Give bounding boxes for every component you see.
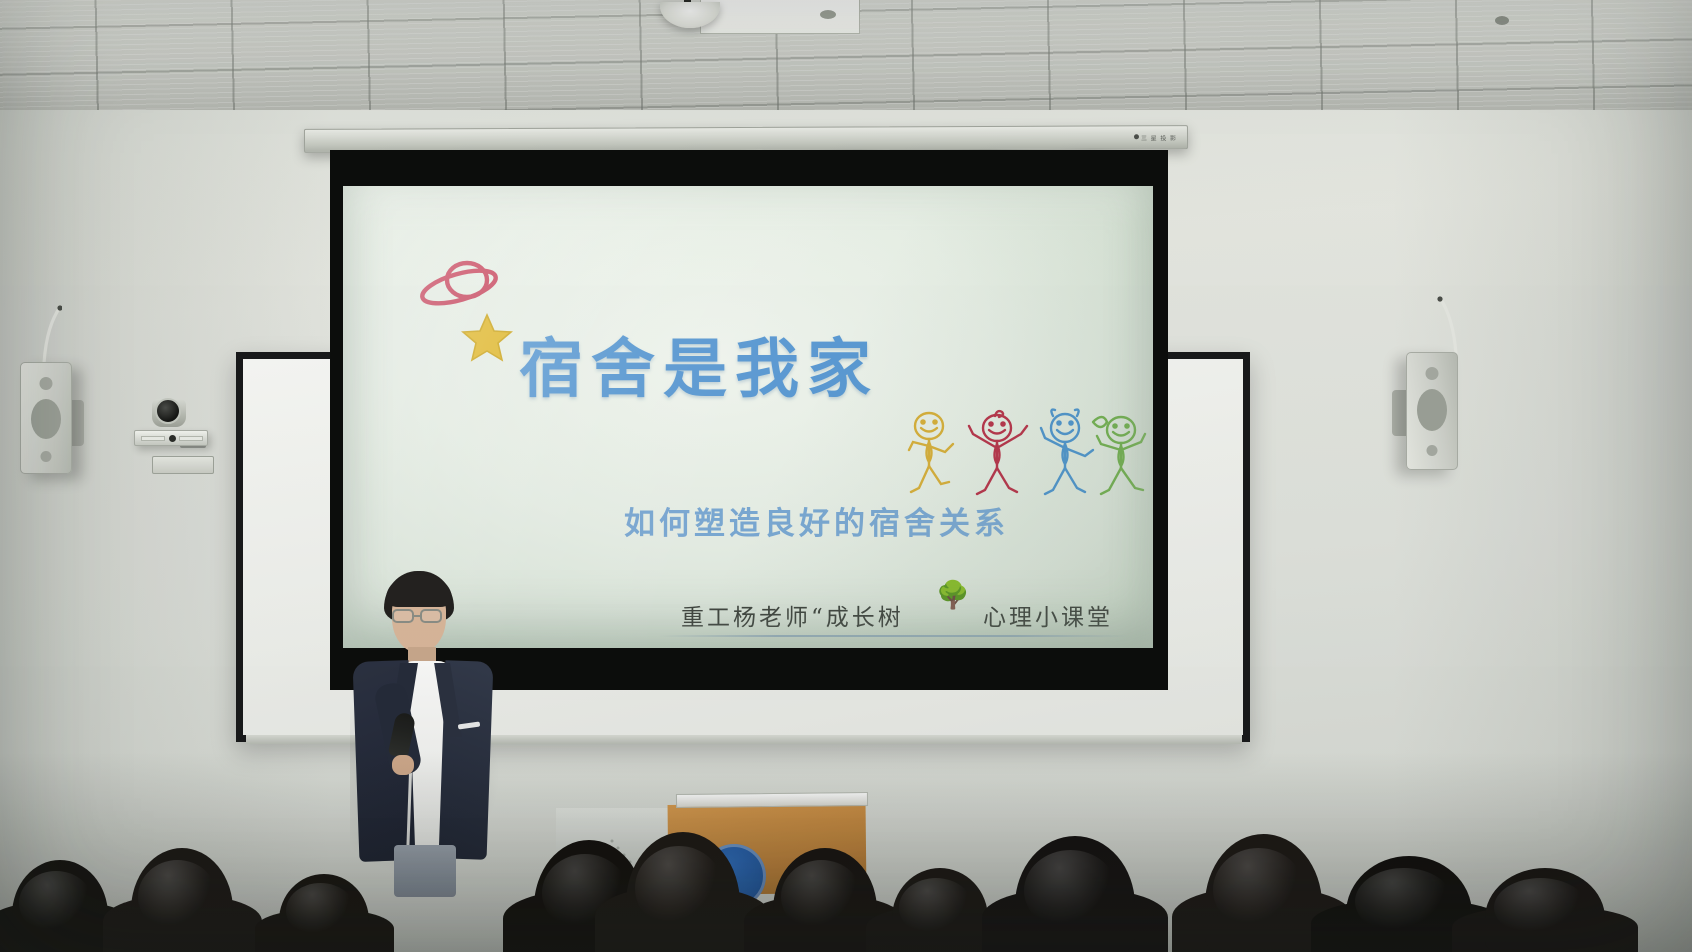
ceiling-sensor-icon bbox=[1495, 16, 1509, 25]
projector-screen-housing: 三 星 投 影 bbox=[304, 125, 1188, 153]
housing-logo-dot-icon bbox=[1134, 134, 1139, 139]
equipment-label-plate bbox=[152, 456, 214, 474]
lecture-hall-photo: 三 星 投 影 宿舍是我家 bbox=[0, 0, 1692, 952]
speaker-tweeter-icon bbox=[40, 377, 53, 390]
camera-indicator-icon bbox=[169, 435, 176, 442]
speaker-woofer-icon bbox=[1417, 389, 1447, 431]
foreground-shadow bbox=[0, 752, 1692, 952]
speaker-woofer-icon bbox=[31, 399, 61, 439]
camera-mic-slot-left bbox=[141, 436, 165, 441]
speaker-tweeter-icon bbox=[1426, 367, 1439, 380]
conference-camera-base bbox=[134, 430, 208, 446]
antenna-left-icon bbox=[40, 305, 62, 365]
speaker-port-icon bbox=[41, 451, 52, 462]
wall-speaker-left bbox=[20, 362, 72, 474]
glasses-bridge-icon bbox=[414, 615, 422, 617]
camera-lens-icon bbox=[155, 398, 181, 424]
antenna-right-icon bbox=[1436, 296, 1460, 356]
smoke-detector-icon bbox=[820, 10, 836, 19]
ceiling-light-panel bbox=[700, 0, 860, 34]
speaker-port-icon bbox=[1427, 445, 1438, 456]
camera-mic-slot-right bbox=[179, 436, 203, 441]
glasses-left-lens-icon bbox=[392, 609, 414, 623]
presenter-fringe bbox=[386, 575, 452, 607]
wall-speaker-right bbox=[1406, 352, 1458, 470]
housing-brand-text: 三 星 投 影 bbox=[1141, 133, 1177, 142]
ceiling bbox=[0, 0, 1692, 118]
glasses-right-lens-icon bbox=[420, 609, 442, 623]
